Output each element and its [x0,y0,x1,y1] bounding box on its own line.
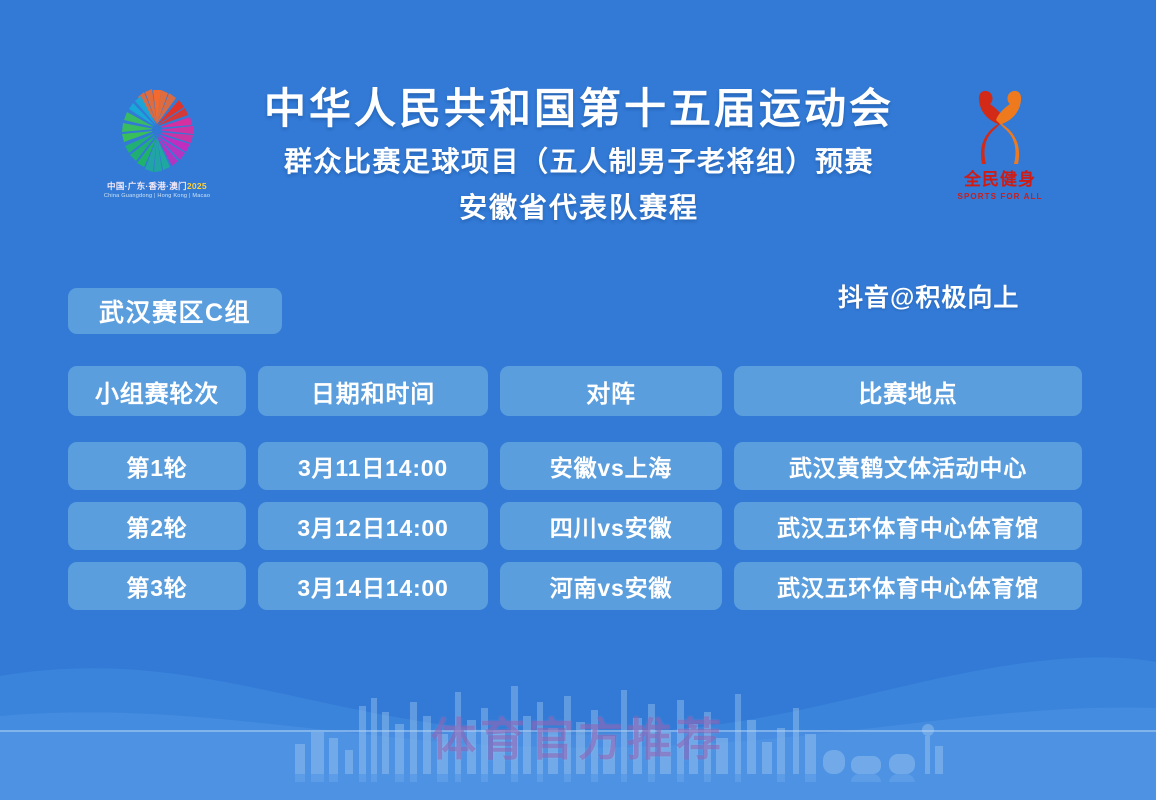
table-header-row: 小组赛轮次 日期和时间 对阵 比赛地点 [68,366,1090,416]
cell-matchup: 四川vs安徽 [500,502,722,550]
emblem-burst-icon [105,84,209,180]
cell-datetime: 3月12日14:00 [258,502,488,550]
emblem-cn-cities: 中国·广东·香港·澳门 [107,181,187,191]
emblem-cn-text: 中国·广东·香港·澳门2025 [98,182,216,192]
sports-for-all-en: SPORTS FOR ALL [944,192,1056,201]
sports-for-all-emblem: 全民健身 SPORTS FOR ALL [944,86,1056,212]
team-schedule-title: 安徽省代表队赛程 [218,191,940,225]
city-skyline-silhouette [285,672,1005,782]
column-header-datetime: 日期和时间 [258,366,488,416]
cell-venue: 武汉五环体育中心体育馆 [734,562,1082,610]
cell-venue: 武汉五环体育中心体育馆 [734,502,1082,550]
column-header-matchup: 对阵 [500,366,722,416]
cell-datetime: 3月14日14:00 [258,562,488,610]
emblem-en-text: China Guangdong | Hong Kong | Macao [98,193,216,199]
title-block: 中华人民共和国第十五届运动会 群众比赛足球项目（五人制男子老将组）预赛 安徽省代… [218,84,940,225]
poster-canvas: 体育官方推荐 [0,0,1156,800]
cell-matchup: 河南vs安徽 [500,562,722,610]
sports-for-all-figures-icon [952,86,1048,168]
douyin-handle: 抖音@积极向上 [838,278,1019,314]
table-row: 第2轮 3月12日14:00 四川vs安徽 武汉五环体育中心体育馆 [68,502,1090,550]
page-title: 中华人民共和国第十五届运动会 [218,84,940,134]
column-header-venue: 比赛地点 [734,366,1082,416]
column-header-round: 小组赛轮次 [68,366,246,416]
sports-for-all-cn: 全民健身 [944,171,1056,190]
poster-header: 中国·广东·香港·澳门2025 China Guangdong | Hong K… [0,0,1156,270]
schedule-table: 小组赛轮次 日期和时间 对阵 比赛地点 第1轮 3月11日14:00 安徽vs上… [68,366,1090,622]
emblem-year: 2025 [187,181,207,191]
cell-datetime: 3月11日14:00 [258,442,488,490]
group-badge: 武汉赛区C组 [68,288,282,334]
cell-venue: 武汉黄鹤文体活动中心 [734,442,1082,490]
event-subtitle: 群众比赛足球项目（五人制男子老将组）预赛 [218,145,940,179]
table-row: 第1轮 3月11日14:00 安徽vs上海 武汉黄鹤文体活动中心 [68,442,1090,490]
cell-round: 第2轮 [68,502,246,550]
table-row: 第3轮 3月14日14:00 河南vs安徽 武汉五环体育中心体育馆 [68,562,1090,610]
cell-round: 第1轮 [68,442,246,490]
cell-matchup: 安徽vs上海 [500,442,722,490]
national-games-emblem: 中国·广东·香港·澳门2025 China Guangdong | Hong K… [98,84,216,212]
cell-round: 第3轮 [68,562,246,610]
